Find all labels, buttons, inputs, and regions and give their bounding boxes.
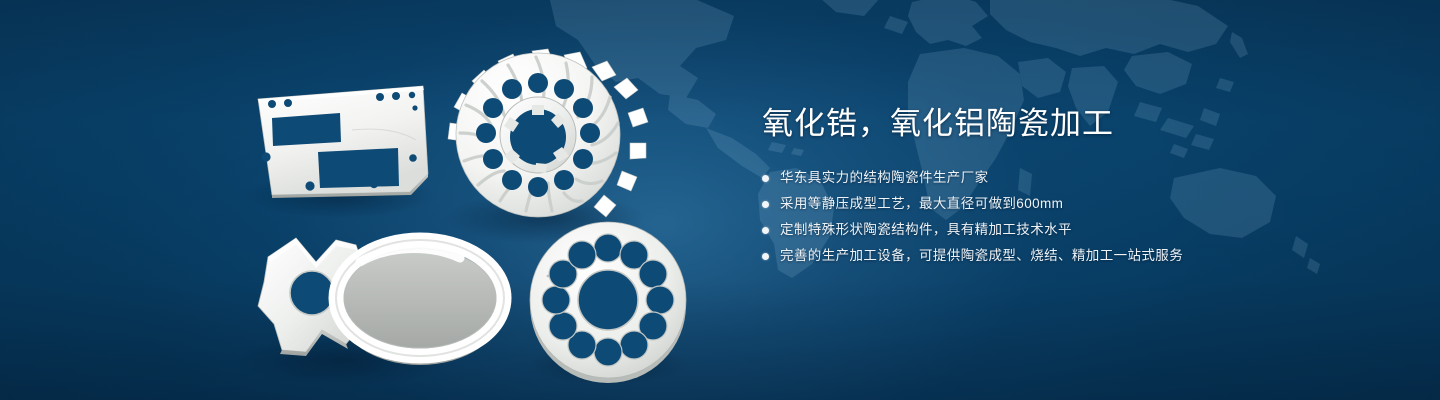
product-ceramic-ring (336, 240, 504, 365)
feature-text: 定制特殊形状陶瓷结构件，具有精加工技术水平 (780, 221, 1072, 239)
bullet-dot-icon (762, 201, 769, 208)
bullet-dot-icon (762, 227, 769, 234)
hero-banner: 氧化锆，氧化铝陶瓷加工 华东具实力的结构陶瓷件生产厂家 采用等静压成型工艺，最大… (0, 0, 1440, 400)
list-item: 完善的生产加工设备，可提供陶瓷成型、烧结、精加工一站式服务 (762, 243, 1322, 269)
list-item: 定制特殊形状陶瓷结构件，具有精加工技术水平 (762, 217, 1322, 243)
product-ceramic-perforated-disc (530, 222, 686, 383)
bullet-dot-icon (762, 253, 769, 260)
feature-text: 华东具实力的结构陶瓷件生产厂家 (780, 169, 989, 187)
page-title: 氧化锆，氧化铝陶瓷加工 (762, 104, 1322, 144)
list-item: 采用等静压成型工艺，最大直径可做到600mm (762, 191, 1322, 217)
feature-text: 完善的生产加工设备，可提供陶瓷成型、烧结、精加工一站式服务 (780, 247, 1183, 265)
banner-copy: 氧化锆，氧化铝陶瓷加工 华东具实力的结构陶瓷件生产厂家 采用等静压成型工艺，最大… (762, 104, 1322, 269)
product-ceramic-impeller (448, 49, 648, 217)
product-ceramic-mounting-plate (258, 86, 428, 198)
product-image-cluster (0, 0, 740, 400)
feature-text: 采用等静压成型工艺，最大直径可做到600mm (780, 195, 1063, 213)
bullet-dot-icon (762, 175, 769, 182)
list-item: 华东具实力的结构陶瓷件生产厂家 (762, 165, 1322, 191)
feature-list: 华东具实力的结构陶瓷件生产厂家 采用等静压成型工艺，最大直径可做到600mm 定… (762, 165, 1322, 269)
